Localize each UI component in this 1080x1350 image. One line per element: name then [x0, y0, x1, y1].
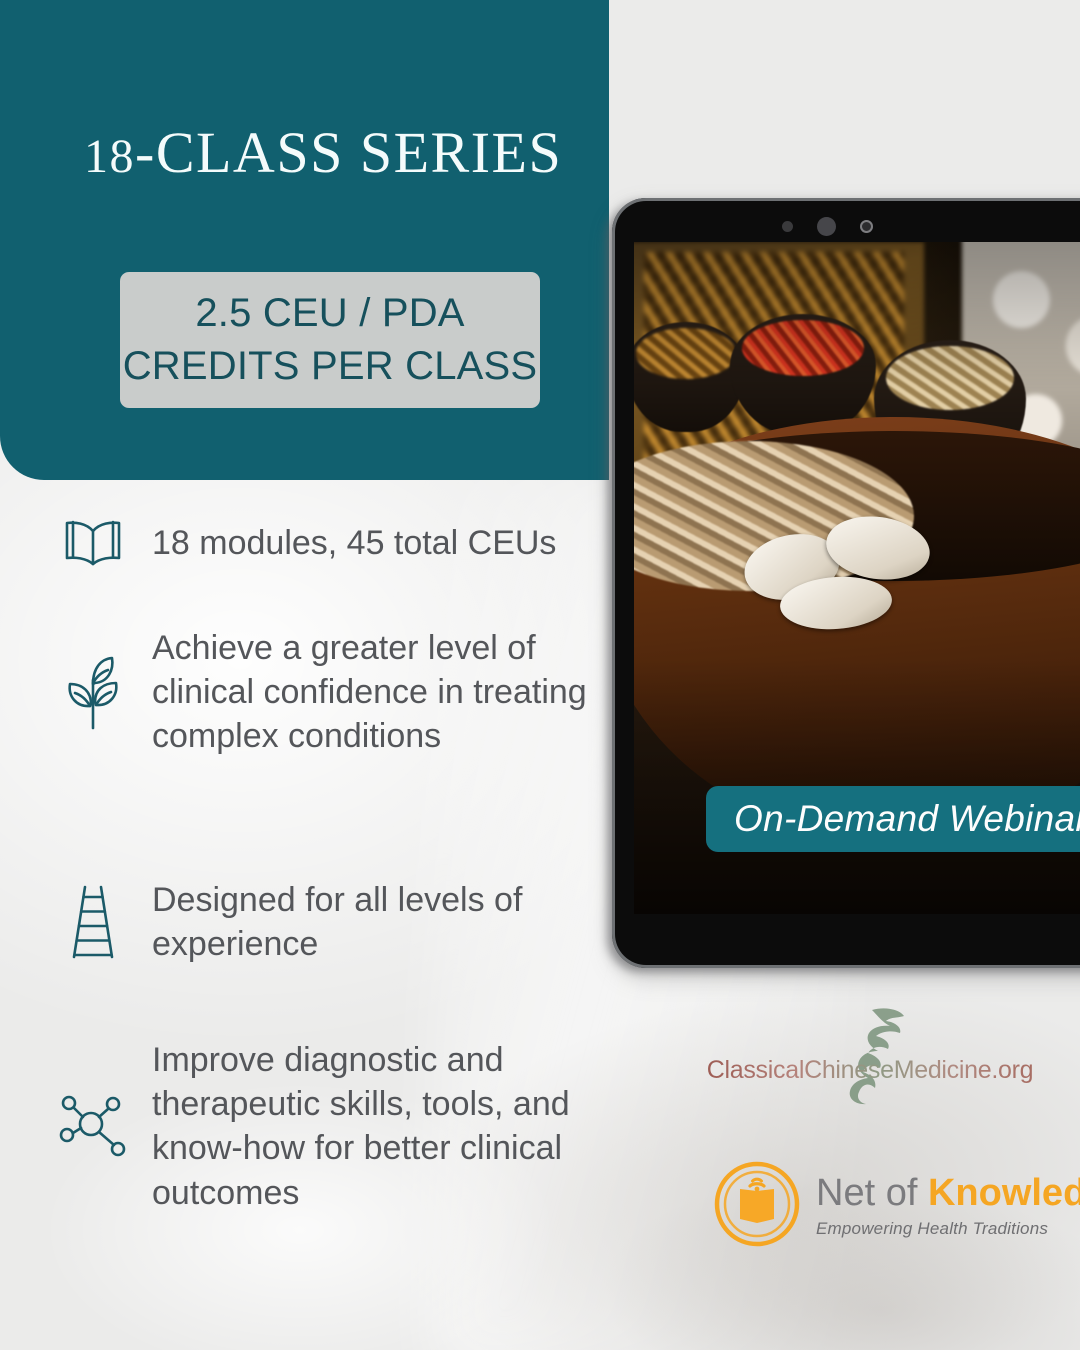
- feature-text: 18 modules, 45 total CEUs: [152, 521, 556, 565]
- tablet-screen: On-Demand Webinar: [634, 242, 1080, 914]
- feature-text: Achieve a greater level of clinical conf…: [152, 626, 616, 759]
- camera-lens-icon: [817, 217, 836, 236]
- status-badge: On-Demand Webinar: [706, 786, 1080, 852]
- nok-tagline: Empowering Health Traditions: [816, 1219, 1080, 1239]
- feature-text: Improve diagnostic and therapeutic skill…: [152, 1038, 626, 1215]
- ladder-icon: [56, 884, 130, 960]
- tablet-camera-sensors: [612, 217, 1042, 236]
- open-book-icon: [56, 518, 130, 568]
- net-of-knowledge-logo[interactable]: Net of Knowledge® Empowering Health Trad…: [714, 1158, 1034, 1250]
- webinar-badge-label: On-Demand Webinar: [734, 798, 1080, 840]
- nok-book-icon: [714, 1161, 800, 1247]
- indicator-dot-icon: [860, 220, 873, 233]
- list-item: Achieve a greater level of clinical conf…: [56, 626, 616, 759]
- ccm-logo[interactable]: ClassicalChineseMedicine.org: [700, 1012, 1040, 1104]
- header-panel: 18-CLASS SERIES 2.5 CEU / PDA CREDITS PE…: [0, 0, 609, 480]
- title-rest: -CLASS SERIES: [135, 120, 562, 185]
- page-title: 18-CLASS SERIES: [84, 124, 624, 182]
- ceu-badge-label: 2.5 CEU / PDA CREDITS PER CLASS: [123, 287, 538, 393]
- ceu-badge-line1: 2.5 CEU / PDA: [195, 291, 464, 335]
- plant-sprout-icon: [56, 652, 130, 732]
- poster-canvas: 18-CLASS SERIES 2.5 CEU / PDA CREDITS PE…: [0, 0, 1080, 1350]
- feature-text: Designed for all levels of experience: [152, 878, 616, 966]
- ceu-credits-badge: 2.5 CEU / PDA CREDITS PER CLASS: [120, 272, 540, 408]
- nok-wordmark: Net of Knowledge® Empowering Health Trad…: [816, 1170, 1080, 1239]
- list-item: 18 modules, 45 total CEUs: [56, 518, 556, 568]
- nok-name-part2: Knowledge: [928, 1172, 1080, 1214]
- network-nodes-icon: [56, 1093, 130, 1159]
- ccm-logo-text: ClassicalChineseMedicine.org: [700, 1056, 1040, 1085]
- sensor-dot-icon: [782, 221, 793, 232]
- list-item: Improve diagnostic and therapeutic skill…: [56, 1038, 626, 1215]
- ceu-badge-line2: CREDITS PER CLASS: [123, 344, 538, 388]
- tablet-device: On-Demand Webinar: [612, 198, 1080, 968]
- list-item: Designed for all levels of experience: [56, 878, 616, 966]
- nok-name-part1: Net of: [816, 1172, 928, 1214]
- nok-name: Net of Knowledge®: [816, 1174, 1080, 1212]
- title-number: 18: [84, 130, 135, 183]
